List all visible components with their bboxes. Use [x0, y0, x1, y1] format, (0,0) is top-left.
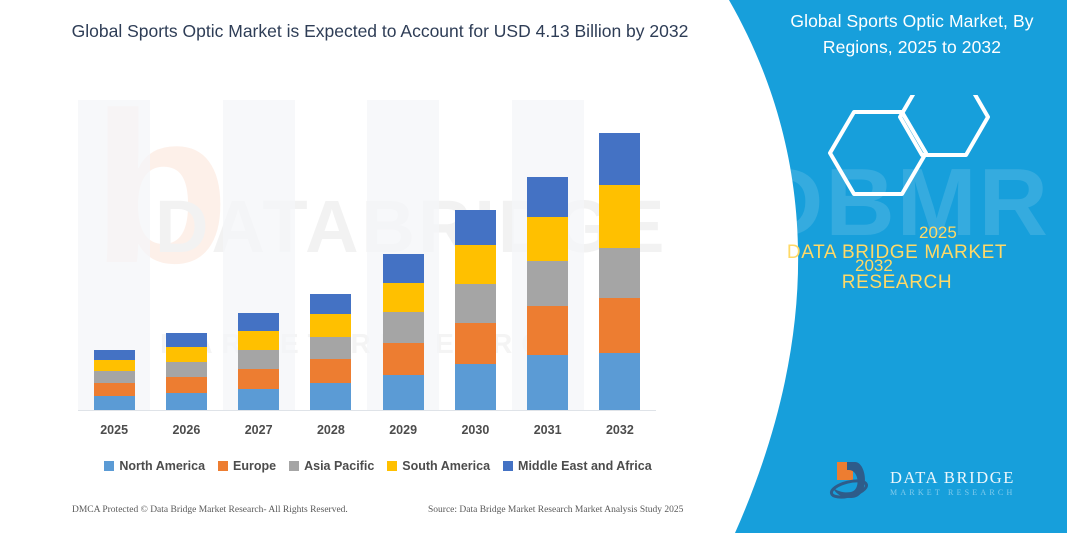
footer-source: Source: Data Bridge Market Research Mark…	[428, 505, 683, 515]
bar-2028[interactable]	[310, 294, 351, 410]
bar-segment[interactable]	[599, 185, 640, 248]
page-title: Global Sports Optic Market is Expected t…	[60, 17, 700, 46]
bar-2030[interactable]	[455, 210, 496, 410]
bar-segment[interactable]	[383, 375, 424, 410]
bar-2025[interactable]	[94, 350, 135, 410]
legend-item[interactable]: North America	[104, 459, 205, 473]
footer-copyright: DMCA Protected © Data Bridge Market Rese…	[72, 505, 348, 515]
logo-tagline: MARKET RESEARCH	[890, 488, 1015, 497]
infographic-canvas: b DATABRIDGE MARKET RESEARCH Global Spor…	[0, 0, 1067, 533]
hexagon-shapes	[762, 95, 1062, 225]
panel-title: Global Sports Optic Market, By Regions, …	[767, 8, 1057, 60]
bar-2026[interactable]	[166, 333, 207, 410]
x-axis-label-2026: 2026	[150, 423, 222, 437]
bar-segment[interactable]	[238, 331, 279, 350]
bar-segment[interactable]	[238, 313, 279, 331]
bar-segment[interactable]	[94, 360, 135, 371]
bar-segment[interactable]	[94, 371, 135, 383]
legend-label: South America	[402, 459, 490, 473]
legend-item[interactable]: Europe	[218, 459, 276, 473]
x-axis-label-2025: 2025	[78, 423, 150, 437]
bar-2032[interactable]	[599, 133, 640, 410]
company-logo: DATA BRIDGE MARKET RESEARCH	[827, 458, 1042, 516]
bar-segment[interactable]	[599, 248, 640, 298]
panel-brand-line1: DATA BRIDGE MARKET	[747, 238, 1047, 268]
logo-bridge-icon	[827, 458, 887, 514]
legend-item[interactable]: South America	[387, 459, 490, 473]
hexagon-2032	[830, 112, 926, 194]
footer: DMCA Protected © Data Bridge Market Rese…	[0, 505, 712, 525]
bar-segment[interactable]	[455, 284, 496, 323]
bar-segment[interactable]	[166, 347, 207, 362]
x-axis-label-2028: 2028	[295, 423, 367, 437]
legend-swatch-icon	[503, 461, 513, 471]
bar-segment[interactable]	[238, 389, 279, 410]
bar-segment[interactable]	[599, 133, 640, 185]
bar-segment[interactable]	[166, 393, 207, 410]
legend-label: Europe	[233, 459, 276, 473]
bar-segment[interactable]	[310, 383, 351, 410]
panel-brand-name: DATA BRIDGE MARKET RESEARCH	[747, 238, 1047, 298]
bar-segment[interactable]	[238, 369, 279, 389]
bar-segment[interactable]	[383, 312, 424, 343]
bar-segment[interactable]	[455, 210, 496, 245]
bar-segment[interactable]	[527, 306, 568, 355]
bar-segment[interactable]	[310, 337, 351, 359]
chart-panel: b DATABRIDGE MARKET RESEARCH Global Spor…	[0, 0, 712, 533]
hexagon-2025	[900, 95, 988, 155]
bar-segment[interactable]	[599, 353, 640, 410]
bar-segment[interactable]	[383, 254, 424, 283]
legend-item[interactable]: Asia Pacific	[289, 459, 374, 473]
logo-title: DATA BRIDGE	[890, 468, 1015, 488]
bar-segment[interactable]	[527, 355, 568, 410]
x-axis-label-2027: 2027	[223, 423, 295, 437]
chart-legend: North AmericaEuropeAsia PacificSouth Ame…	[78, 455, 678, 477]
bar-2031[interactable]	[527, 177, 568, 410]
x-axis-label-2031: 2031	[512, 423, 584, 437]
bar-segment[interactable]	[527, 217, 568, 261]
bar-segment[interactable]	[310, 294, 351, 314]
legend-swatch-icon	[387, 461, 397, 471]
panel-brand-line2: RESEARCH	[747, 268, 1047, 298]
bar-segment[interactable]	[238, 350, 279, 369]
bar-segment[interactable]	[94, 396, 135, 410]
legend-label: Asia Pacific	[304, 459, 374, 473]
axis-baseline	[78, 410, 656, 411]
bar-segment[interactable]	[383, 283, 424, 312]
brand-panel: DBMR Global Sports Optic Market, By Regi…	[707, 0, 1067, 533]
hexagon-badges: 2032 2025	[762, 95, 1062, 210]
bar-segment[interactable]	[599, 298, 640, 353]
bar-segment[interactable]	[94, 350, 135, 360]
bar-segment[interactable]	[310, 359, 351, 383]
x-axis-label-2029: 2029	[367, 423, 439, 437]
bar-2027[interactable]	[238, 313, 279, 410]
bar-2029[interactable]	[383, 254, 424, 410]
bar-segment[interactable]	[527, 177, 568, 217]
x-axis-labels: 20252026202720282029203020312032	[78, 423, 656, 443]
legend-swatch-icon	[104, 461, 114, 471]
bar-segment[interactable]	[166, 333, 207, 347]
legend-swatch-icon	[218, 461, 228, 471]
bar-segment[interactable]	[455, 245, 496, 284]
bar-segment[interactable]	[455, 364, 496, 410]
bar-segment[interactable]	[455, 323, 496, 364]
bar-segment[interactable]	[166, 377, 207, 393]
legend-label: Middle East and Africa	[518, 459, 652, 473]
x-axis-label-2032: 2032	[584, 423, 656, 437]
x-axis-label-2030: 2030	[439, 423, 511, 437]
bar-segment[interactable]	[310, 314, 351, 337]
bar-segment[interactable]	[383, 343, 424, 375]
bar-segment[interactable]	[166, 362, 207, 377]
legend-label: North America	[119, 459, 205, 473]
bar-segment[interactable]	[94, 383, 135, 396]
legend-swatch-icon	[289, 461, 299, 471]
legend-item[interactable]: Middle East and Africa	[503, 459, 652, 473]
bar-segment[interactable]	[527, 261, 568, 306]
